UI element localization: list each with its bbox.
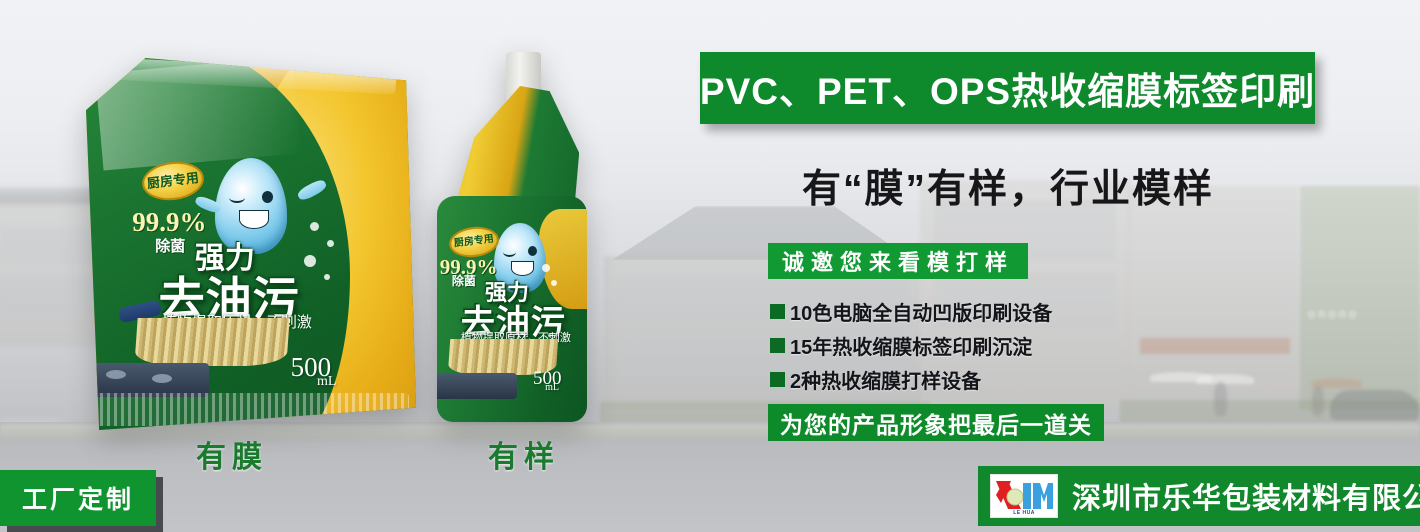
invite-banner: 诚邀您来看模打样 xyxy=(768,243,1028,279)
sterilization-label-bottle: 除菌 xyxy=(452,272,476,289)
building-sign-text xyxy=(640,292,647,309)
factory-custom-badge: 工厂定制 xyxy=(0,470,156,526)
splash-4 xyxy=(324,274,330,280)
mascot-arm-right xyxy=(296,178,328,203)
mascot-eye-left xyxy=(229,192,245,203)
headline-banner-text: PVC、PET、OPS热收缩膜标签印刷 xyxy=(700,61,1315,115)
mascot-eye-left-bottle xyxy=(503,247,516,257)
pedestrian-1 xyxy=(1214,382,1227,416)
car-right xyxy=(1330,390,1420,420)
sterilization-label: 除菌 xyxy=(155,235,185,256)
invite-banner-text: 诚邀您来看模打样 xyxy=(782,245,1014,277)
company-name: 深圳市乐华包装材料有限公司 xyxy=(1072,475,1420,517)
stove-top xyxy=(86,363,209,397)
bullet-square-icon xyxy=(770,338,785,353)
kitchen-badge-label-bottle: 厨房专用 xyxy=(453,235,494,250)
green-wall xyxy=(1300,186,1420,410)
feature-label: 10色电脑全自动凹版印刷设备 xyxy=(790,297,1052,326)
feature-item: 2种热收缩膜打样设备 xyxy=(770,365,1052,394)
caption-bottle: 有样 xyxy=(488,432,560,476)
bullet-square-icon xyxy=(770,304,785,319)
volume-unit: mL xyxy=(317,374,336,390)
headline-banner: PVC、PET、OPS热收缩膜标签印刷 xyxy=(700,52,1315,124)
feature-label: 15年热收缩膜标签印刷沉淀 xyxy=(790,331,1032,360)
pouch-bottom-seal xyxy=(93,393,410,426)
pedestrian-2 xyxy=(1312,386,1324,416)
feature-item: 15年热收缩膜标签印刷沉淀 xyxy=(770,331,1052,360)
promise-banner: 为您的产品形象把最后一道关 xyxy=(768,404,1104,441)
stove-top-bottle xyxy=(437,373,517,399)
caption-pouch: 有膜 xyxy=(196,432,268,476)
pouch-label-art: 厨房专用 99.9% 除菌 强力 去油污 植物提取原材，不刺激 500 mL xyxy=(86,58,416,430)
bottle-label-panel: 厨房专用 99.9% 除菌 强力 去油污 植物提取原材，不刺激 500 mL xyxy=(437,196,587,423)
product-pouch: 厨房专用 99.9% 除菌 强力 去油污 植物提取原材，不刺激 500 mL xyxy=(86,58,416,430)
promise-banner-text: 为您的产品形象把最后一道关 xyxy=(780,406,1092,440)
feature-list: 10色电脑全自动凹版印刷设备 15年热收缩膜标签印刷沉淀 2种热收缩膜打样设备 xyxy=(770,297,1052,399)
factory-custom-label: 工厂定制 xyxy=(22,480,134,516)
product-bottle: 厨房专用 99.9% 除菌 强力 去油污 植物提取原材，不刺激 500 mL xyxy=(432,52,592,430)
subtitle-text: 有“膜”有样，行业模样 xyxy=(700,158,1316,214)
logo-wordmark: LE HUA xyxy=(991,510,1057,516)
bullet-square-icon xyxy=(770,372,785,387)
company-logo: LE HUA xyxy=(990,474,1058,518)
mascot-eye-right-bottle xyxy=(528,246,537,256)
umbrella-2 xyxy=(1196,374,1254,384)
storefront-sign: оnоnо xyxy=(1308,306,1359,321)
company-bar: LE HUA 深圳市乐华包装材料有限公司 xyxy=(978,466,1420,526)
splash-bottle-1 xyxy=(542,264,550,272)
brush-bristles xyxy=(134,318,289,366)
splash-3 xyxy=(304,255,316,267)
splash-bottle-2 xyxy=(551,280,557,286)
splash-1 xyxy=(310,222,319,231)
promotional-banner: оnоnо xyxy=(0,0,1420,532)
feature-label: 2种热收缩膜打样设备 xyxy=(790,365,981,394)
awning-right xyxy=(1140,338,1290,354)
volume-unit-bottle: mL xyxy=(545,382,559,393)
kitchen-badge-label: 厨房专用 xyxy=(146,171,199,191)
pouch-body: 厨房专用 99.9% 除菌 强力 去油污 植物提取原材，不刺激 500 mL xyxy=(86,58,416,430)
mascot-eye-right xyxy=(262,191,273,203)
feature-item: 10色电脑全自动凹版印刷设备 xyxy=(770,297,1052,326)
mascot-mouth-bottle xyxy=(511,261,534,276)
splash-2 xyxy=(327,240,334,247)
mascot-mouth xyxy=(239,210,269,229)
bottle-label-art: 厨房专用 99.9% 除菌 强力 去油污 植物提取原材，不刺激 500 mL xyxy=(437,196,587,423)
